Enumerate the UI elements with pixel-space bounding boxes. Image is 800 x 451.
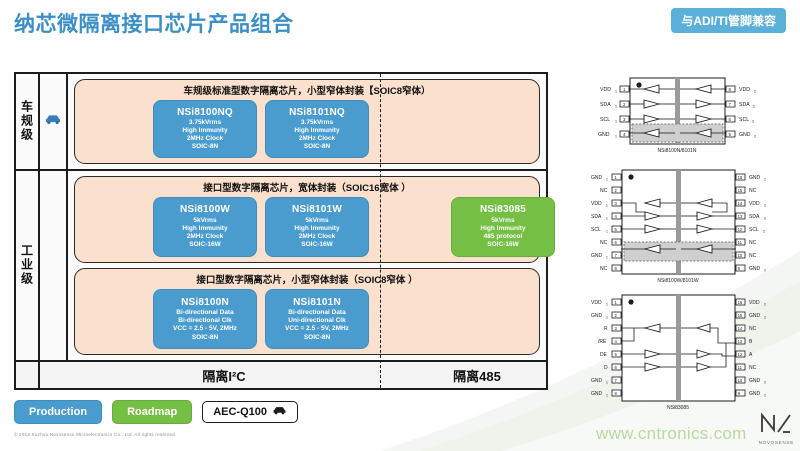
copyright-notice: © 2018 Suzhou Novosense Microelectronics… [14, 432, 176, 437]
pin-right-5: 5 GND 2 [726, 131, 756, 139]
brand-logo: NOVOSENSE [759, 412, 794, 445]
product-chip-nsi8101nq[interactable]: NSi8101NQ 3.75kVrms High Immunity 2MHz C… [265, 100, 369, 157]
svg-text:13: 13 [738, 214, 743, 219]
svg-text:10: 10 [738, 378, 743, 383]
svg-text:2: 2 [764, 315, 766, 319]
svg-text:1: 1 [606, 302, 608, 306]
svg-text:SDA: SDA [591, 214, 602, 220]
chip-name: NSi83085 [454, 204, 552, 217]
svg-text:2: 2 [763, 229, 765, 233]
pin-right-9: 9 GND 2 [736, 265, 766, 272]
product-matrix: 车规级 车规级标准型数字隔离芯片，小型窄体封装【SOIC8窄体） NSi [14, 72, 548, 390]
pin-left-8: 8 NC [600, 265, 621, 272]
svg-text:2: 2 [764, 380, 766, 384]
svg-text:D: D [604, 365, 608, 371]
chip-spec-line: SOIC-8N [156, 143, 254, 151]
legend-aec-q100[interactable]: AEC-Q100 [202, 401, 298, 423]
chip-spec-line: 3.75kVrms [268, 119, 366, 127]
svg-text:1: 1 [606, 216, 608, 220]
svg-text:2: 2 [752, 120, 754, 124]
pin-left-4: 4 SDA 1 [591, 213, 621, 220]
svg-text:2: 2 [764, 268, 766, 272]
pin-right-16: 16 GND 2 [736, 174, 766, 181]
grade-icon-column-automotive [40, 74, 68, 169]
chip-spec-line: High Immunity [156, 225, 254, 233]
chip-group: NSi8100N Bi-directional Data Bi-directio… [81, 289, 533, 349]
product-chip-nsi8101n[interactable]: NSi8101N Bi-directional Data Uni-directi… [265, 289, 369, 349]
svg-text:NC: NC [749, 188, 757, 194]
pin-right-9: 9 GND 2 [736, 390, 766, 397]
pin-left-5: 5 DE [600, 351, 621, 358]
footer-label-i2c: 隔离I²C [40, 362, 408, 388]
svg-text:VDD: VDD [739, 87, 750, 93]
product-chip-nsi8100n[interactable]: NSi8100N Bi-directional Data Bi-directio… [153, 289, 257, 349]
svg-text:NC: NC [749, 326, 757, 332]
grade-label-text: 车规级 [19, 100, 36, 142]
pin-left-5: 5 SCL 1 [591, 226, 621, 233]
pin-left-8: 8 GND 1 [591, 390, 621, 397]
pin-right-7: 7 SDA 2 [726, 101, 755, 109]
product-chip-nsi8100w[interactable]: NSi8100W 5kVrms High Immunity 2MHz Clock… [153, 197, 257, 257]
svg-text:R: R [604, 326, 608, 332]
svg-text:NC: NC [749, 253, 757, 259]
product-band: 接口型数字隔离芯片，宽体封装（SOIC16宽体 ） NSi8100W 5kVrm… [74, 176, 540, 263]
pin-left-2: 2 NC [600, 187, 621, 194]
svg-text:2: 2 [764, 216, 766, 220]
car-icon [272, 406, 287, 418]
diagram-part-label: NSi8100W/8101W [657, 278, 698, 284]
product-chip-nsi8100nq[interactable]: NSi8100NQ 3.75kVrms High Immunity 2MHz C… [153, 100, 257, 157]
pin-left-7: 7 GND 1 [591, 377, 621, 384]
pin-left-7: 7 GND 1 [591, 252, 621, 259]
grade-label-industrial: 工业级 [16, 171, 40, 360]
pin-left-3: 3 SCL 1 [600, 116, 629, 124]
chip-spec-line: High Immunity [156, 127, 254, 135]
svg-text:14: 14 [738, 326, 743, 331]
footer-label-rs485: 隔离485 [408, 362, 546, 388]
pin-right-14: 14 VDD 2 [736, 200, 766, 207]
chip-spec-line: 3.75kVrms [156, 119, 254, 127]
pin-right-15: 15 GND 2 [736, 312, 766, 319]
pin-left-4: 4 GND 1 [598, 131, 629, 139]
svg-text:VDD: VDD [749, 300, 760, 306]
product-chip-nsi83085[interactable]: NSi83085 5kVrms High Immunity 485 protoc… [451, 197, 555, 257]
pinout-diagrams: 1 VDD 1 2 SDA 1 3 SCL 1 [560, 72, 795, 422]
pin-left-1: 1 VDD 1 [600, 86, 629, 94]
svg-text:2: 2 [764, 203, 766, 207]
pin-right-10: 10 NC [736, 252, 757, 259]
svg-text:VDD: VDD [591, 201, 602, 207]
pin-left-2: 2 GND 1 [591, 312, 621, 319]
chip-spec-line: 2MHz Clock [268, 135, 366, 143]
chip-name: NSi8100W [156, 204, 254, 217]
svg-text:SDA: SDA [600, 102, 611, 108]
svg-text:GND: GND [749, 266, 761, 272]
svg-text:GND: GND [749, 175, 761, 181]
chip-spec-line: High Immunity [454, 225, 552, 233]
pin-right-11: 11 NC [736, 239, 757, 246]
svg-text:2: 2 [754, 90, 756, 94]
svg-text:NC: NC [600, 266, 608, 272]
chip-spec-line: High Immunity [268, 225, 366, 233]
chip-spec-line: High Immunity [268, 127, 366, 135]
svg-text:1: 1 [615, 90, 617, 94]
svg-text:1: 1 [606, 229, 608, 233]
matrix-footer: 隔离I²C 隔离485 [16, 362, 546, 388]
svg-text:DE: DE [600, 352, 608, 358]
novosense-mark-icon [759, 412, 794, 439]
svg-text:VDD: VDD [591, 300, 602, 306]
svg-text:GND: GND [591, 175, 603, 181]
band-title: 接口型数字隔离芯片，小型窄体封装（SOIC8窄体 ） [81, 275, 533, 286]
svg-text:SCL: SCL [591, 227, 601, 233]
svg-text:1: 1 [615, 135, 617, 139]
svg-text:NC: NC [749, 240, 757, 246]
pinout-diagram-nsi83085: 1 VDD 1 2 GND 1 3 R 4 / [560, 289, 795, 414]
pin-left-6: 6 NC [600, 239, 621, 246]
svg-text:VDD: VDD [749, 201, 760, 207]
svg-text:SCL: SCL [600, 117, 610, 123]
pin-right-8: 8 VDD 2 [726, 86, 756, 94]
svg-text:SDA: SDA [749, 214, 760, 220]
diagram-part-label: NSi83085 [667, 405, 689, 411]
band-title: 车规级标准型数字隔离芯片，小型窄体封装【SOIC8窄体） [81, 86, 533, 97]
svg-text:2: 2 [764, 302, 766, 306]
chip-spec-line: 2MHz Clock [156, 135, 254, 143]
chip-name: NSi8101N [268, 297, 366, 310]
chip-spec-line: SOIC-16W [454, 241, 552, 249]
chip-name: NSi8101W [268, 204, 366, 217]
chip-spec-line: Uni-directional Clk [268, 317, 366, 325]
pin-right-10: 10 GND 2 [736, 377, 766, 384]
svg-text:GND: GND [591, 313, 603, 319]
svg-text:GND: GND [739, 132, 751, 138]
svg-text:1: 1 [606, 393, 608, 397]
footer-spacer [16, 362, 40, 388]
pin-right-12: 12 A [736, 351, 753, 358]
pin-left-3: 3 VDD 1 [591, 200, 621, 207]
chip-name: NSi8100N [156, 297, 254, 310]
chip-spec-line: 5kVrms [156, 217, 254, 225]
svg-text:1: 1 [606, 255, 608, 259]
chip-spec-line: Bi-directional Clk [156, 317, 254, 325]
svg-text:11: 11 [738, 365, 743, 370]
matrix-body: 车规级 车规级标准型数字隔离芯片，小型窄体封装【SOIC8窄体） NSi [16, 74, 546, 362]
footer-cells: 隔离I²C 隔离485 [40, 362, 546, 388]
svg-text:SCL: SCL [749, 227, 759, 233]
svg-text:NC: NC [749, 365, 757, 371]
svg-text:GND: GND [749, 378, 761, 384]
grade-row-industrial: 工业级 接口型数字隔离芯片，宽体封装（SOIC16宽体 ） NSi8100W 5… [16, 171, 546, 362]
page-title: 纳芯微隔离接口芯片产品组合 [14, 8, 294, 38]
svg-text:1: 1 [606, 380, 608, 384]
svg-text:12: 12 [738, 352, 743, 357]
svg-text:GND: GND [749, 391, 761, 397]
svg-text:10: 10 [738, 253, 743, 258]
svg-text:/RE: /RE [598, 339, 607, 345]
pin-left-4: 4 /RE [598, 338, 621, 345]
car-icon [44, 112, 62, 130]
pin-left-2: 2 SDA 1 [600, 101, 629, 109]
product-band: 车规级标准型数字隔离芯片，小型窄体封装【SOIC8窄体） NSi8100NQ 3… [74, 79, 540, 164]
chip-spec-line: 2MHz Clock [156, 233, 254, 241]
pin-right-11: 11 NC [736, 364, 757, 371]
pin-right-13: 13 B [736, 338, 753, 345]
site-watermark: www.cntronics.com [596, 424, 747, 444]
svg-text:15: 15 [738, 188, 743, 193]
product-chip-nsi8101w[interactable]: NSi8101W 5kVrms High Immunity 2MHz Clock… [265, 197, 369, 257]
band-title: 接口型数字隔离芯片，宽体封装（SOIC16宽体 ） [81, 183, 533, 194]
chip-name: NSi8101NQ [268, 107, 366, 120]
pin-left-3: 3 R [604, 325, 621, 332]
grade-icon-column-industrial [40, 171, 68, 360]
grade-label-text: 工业级 [19, 244, 36, 286]
chip-spec-line: Bi-directional Data [156, 309, 254, 317]
pin-left-1: 1 GND 1 [591, 174, 621, 181]
chip-spec-line: VCC = 2.5 - 5V, 2MHz [268, 325, 366, 333]
svg-text:12: 12 [738, 227, 743, 232]
chip-spec-line: 5kVrms [268, 217, 366, 225]
pinout-diagram-nsi8100w-8101w: 1 GND 1 2 NC 3 VDD 1 4 [560, 164, 795, 289]
pin-right-15: 15 NC [736, 187, 757, 194]
grade-content-industrial: 接口型数字隔离芯片，宽体封装（SOIC16宽体 ） NSi8100W 5kVrm… [68, 171, 546, 360]
pin-right-13: 13 SDA 2 [736, 213, 766, 220]
chip-spec-line: 5kVrms [454, 217, 552, 225]
svg-text:NC: NC [600, 240, 608, 246]
svg-text:13: 13 [738, 339, 743, 344]
svg-text:GND: GND [598, 132, 610, 138]
legend-aec-q100-label: AEC-Q100 [213, 406, 267, 418]
legend-production[interactable]: Production [14, 400, 102, 424]
pin-left-6: 6 D [604, 364, 621, 371]
svg-text:B: B [749, 339, 753, 345]
svg-text:VDD: VDD [600, 87, 611, 93]
brand-name: NOVOSENSE [759, 440, 794, 445]
pin-right-6: 6 SCL 2 [726, 116, 754, 124]
svg-text:GND: GND [591, 391, 603, 397]
product-band: 接口型数字隔离芯片，小型窄体封装（SOIC8窄体 ） NSi8100N Bi-d… [74, 268, 540, 355]
svg-text:1: 1 [615, 120, 617, 124]
svg-text:GND: GND [591, 253, 603, 259]
chip-spec-line: SOIC-16W [156, 241, 254, 249]
chip-spec-line: 2MHz Clock [268, 233, 366, 241]
pin-right-12: 12 SCL 2 [736, 226, 765, 233]
pin-right-16: 16 VDD 2 [736, 299, 766, 306]
compatibility-badge: 与ADI/TI管脚兼容 [671, 8, 786, 33]
chip-spec-line: SOIC-16W [268, 241, 366, 249]
chip-spec-line: SOIC-8N [268, 334, 366, 342]
diagram-part-label: NSi8100N/8101N [658, 148, 697, 154]
chip-spec-line: Bi-directional Data [268, 309, 366, 317]
chip-group: NSi8100NQ 3.75kVrms High Immunity 2MHz C… [81, 100, 533, 157]
chip-spec-line: VCC = 2.5 - 5V, 2MHz [156, 325, 254, 333]
chip-spec-line: SOIC-8N [156, 334, 254, 342]
grade-content-automotive: 车规级标准型数字隔离芯片，小型窄体封装【SOIC8窄体） NSi8100NQ 3… [68, 74, 546, 169]
pinout-diagram-nsi8100n-8101n: 1 VDD 1 2 SDA 1 3 SCL 1 [560, 72, 795, 164]
svg-text:1: 1 [606, 315, 608, 319]
svg-text:14: 14 [738, 201, 743, 206]
svg-text:2: 2 [764, 393, 766, 397]
svg-text:2: 2 [753, 105, 755, 109]
pin-right-14: 14 NC [736, 325, 757, 332]
svg-text:GND: GND [749, 313, 761, 319]
svg-text:16: 16 [738, 175, 743, 180]
pin-left-1: 1 VDD 1 [591, 299, 621, 306]
legend-roadmap[interactable]: Roadmap [112, 400, 192, 424]
svg-text:A: A [749, 352, 753, 358]
svg-text:15: 15 [738, 313, 743, 318]
svg-text:SDA: SDA [739, 102, 750, 108]
svg-text:1: 1 [615, 105, 617, 109]
chip-spec-line: SOIC-8N [268, 143, 366, 151]
svg-text:1: 1 [606, 177, 608, 181]
svg-text:11: 11 [738, 240, 743, 245]
svg-text:16: 16 [738, 300, 743, 305]
svg-text:1: 1 [606, 203, 608, 207]
chip-name: NSi8100NQ [156, 107, 254, 120]
svg-text:2: 2 [754, 135, 756, 139]
svg-text:SCL: SCL [739, 117, 749, 123]
svg-text:2: 2 [764, 177, 766, 181]
chip-group: NSi8100W 5kVrms High Immunity 2MHz Clock… [81, 197, 533, 257]
legend: Production Roadmap AEC-Q100 [14, 400, 298, 424]
grade-row-automotive: 车规级 车规级标准型数字隔离芯片，小型窄体封装【SOIC8窄体） NSi [16, 74, 546, 171]
svg-text:GND: GND [591, 378, 603, 384]
svg-text:NC: NC [600, 188, 608, 194]
grade-label-automotive: 车规级 [16, 74, 40, 169]
chip-spec-line: 485 protocol [454, 233, 552, 241]
